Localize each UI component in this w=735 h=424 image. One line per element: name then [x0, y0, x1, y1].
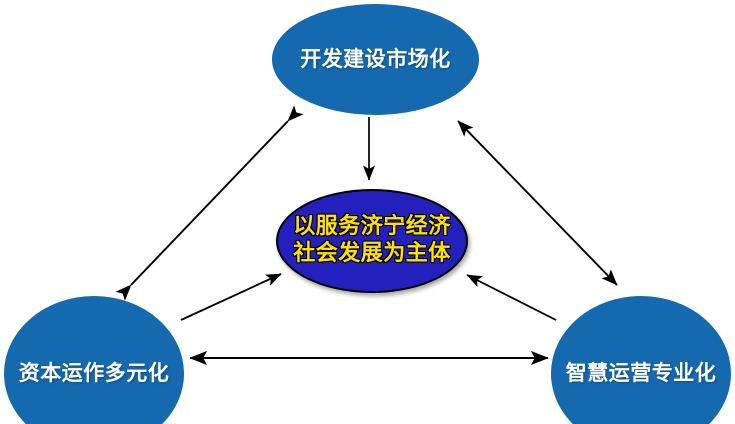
- connector-top-bottom-right: [458, 121, 617, 285]
- node-label: 开发建设市场化: [300, 47, 451, 72]
- node-capital-operation-diversification[interactable]: 资本运作多元化: [4, 296, 184, 424]
- node-label: 智慧运营专业化: [566, 361, 717, 386]
- center-label-line1: 以服务济宁经济: [293, 214, 451, 241]
- node-smart-operation-professionalization[interactable]: 智慧运营专业化: [551, 296, 731, 424]
- connector-bottom-left-to-center: [181, 274, 281, 320]
- center-label-line2: 社会发展为主体: [293, 241, 451, 268]
- node-core-serve-jining-economy[interactable]: 以服务济宁经济 社会发展为主体: [276, 189, 468, 293]
- connector-bottom-right-to-center: [467, 275, 556, 320]
- node-label: 资本运作多元化: [19, 361, 170, 386]
- node-development-construction-marketization[interactable]: 开发建设市场化: [272, 4, 479, 115]
- connector-top-bottom-left: [131, 121, 288, 285]
- diagram-canvas: 开发建设市场化 资本运作多元化 智慧运营专业化 以服务济宁经济 社会发展为主体: [0, 0, 735, 424]
